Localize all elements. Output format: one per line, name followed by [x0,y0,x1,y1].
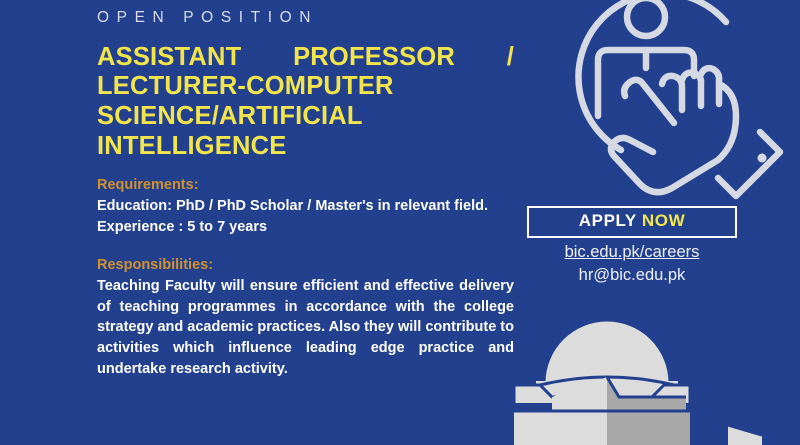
now-label: NOW [642,211,685,230]
requirements-body: Education: PhD / PhD Scholar / Master's … [97,196,514,237]
requirements-experience: Experience : 5 to 7 years [97,217,514,238]
headline-line-3: SCIENCE/ARTIFICIAL [97,102,514,132]
apply-label: APPLY [579,211,637,230]
careers-url-link[interactable]: bic.edu.pk/careers [527,242,737,263]
requirements-education: Education: PhD / PhD Scholar / Master's … [97,196,514,217]
responsibilities-text: Teaching Faculty will ensure efficient a… [97,276,514,379]
apply-block: APPLY NOW bic.edu.pk/careers hr@bic.edu.… [527,206,737,287]
hand-pointer-person-icon [522,0,800,207]
eyebrow-label: OPEN POSITION [97,9,514,28]
requirements-section: Requirements: Education: PhD / PhD Schol… [97,176,514,238]
content-column: OPEN POSITION ASSISTANTPROFESSOR/ LECTUR… [97,0,514,445]
responsibilities-heading: Responsibilities: [97,256,514,276]
job-posting-flyer: OPEN POSITION ASSISTANTPROFESSOR/ LECTUR… [0,0,800,445]
page-title: ASSISTANTPROFESSOR/ LECTURER-COMPUTER SC… [97,43,514,162]
responsibilities-body: Teaching Faculty will ensure efficient a… [97,276,514,379]
headline-line-2: LECTURER-COMPUTER [97,72,514,102]
hr-email-link[interactable]: hr@bic.edu.pk [527,265,737,286]
domed-building-illustration [500,285,800,445]
headline-line-4: INTELLIGENCE [97,132,514,162]
responsibilities-section: Responsibilities: Teaching Faculty will … [97,256,514,379]
apply-now-button[interactable]: APPLY NOW [527,206,737,238]
headline-line-1: ASSISTANTPROFESSOR/ [97,43,514,73]
requirements-heading: Requirements: [97,176,514,196]
